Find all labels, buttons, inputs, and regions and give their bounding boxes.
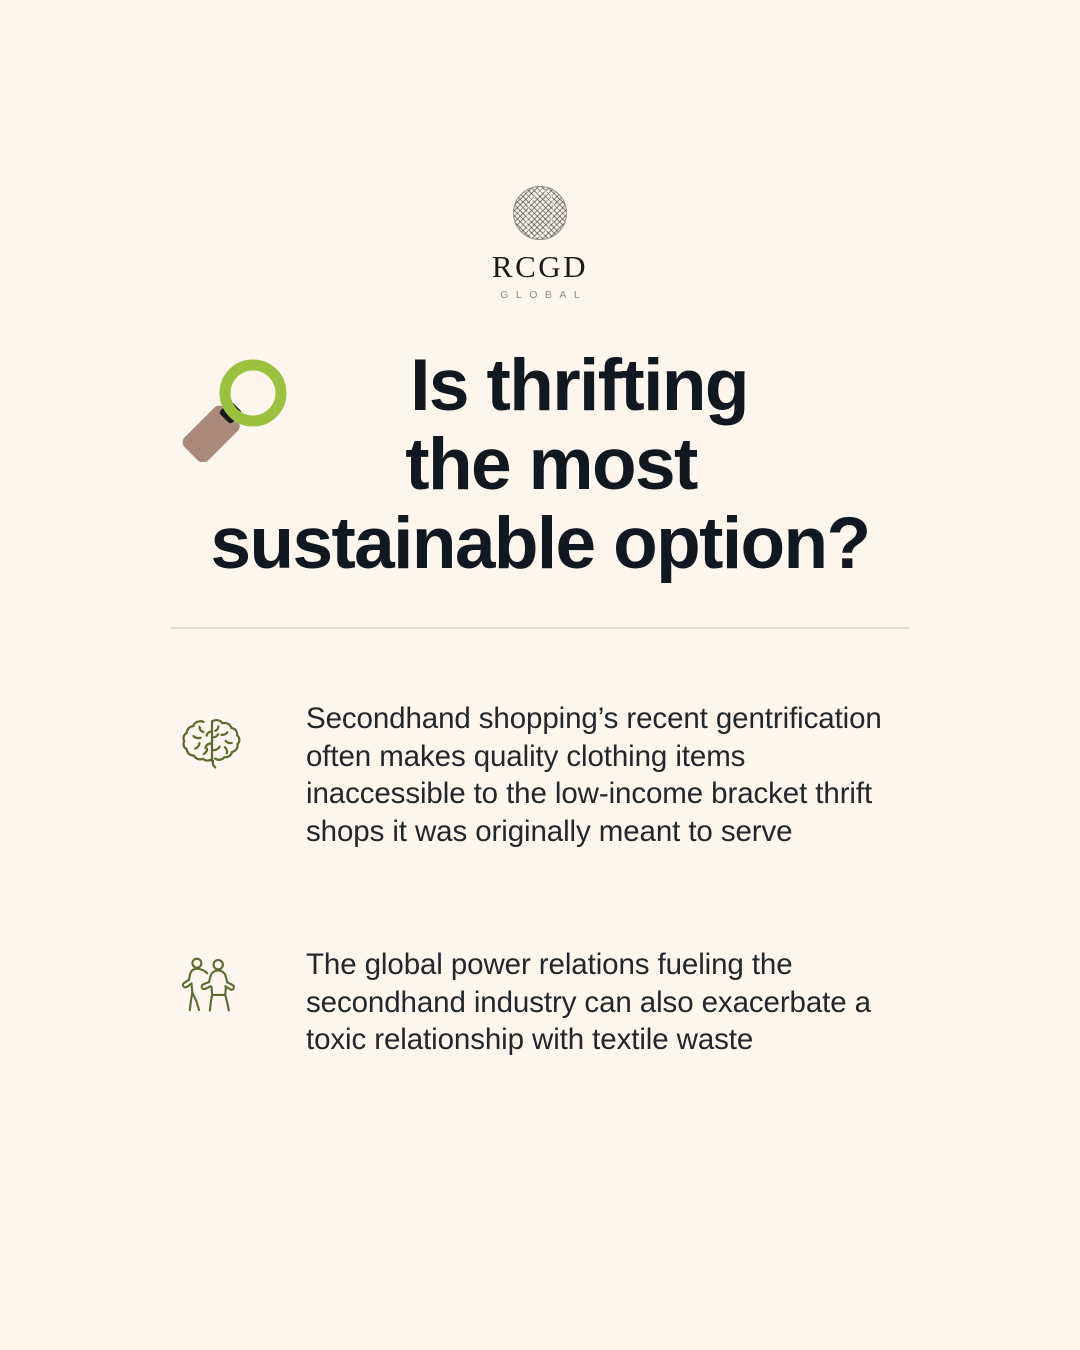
list-item-text: Secondhand shopping’s recent gentrificat…: [306, 700, 906, 850]
slide-canvas: RCGD GLOBAL Is thrifting the most sustai…: [0, 0, 1080, 1350]
headline-line-3: sustainable option?: [0, 504, 1080, 583]
yarn-ball-mark-icon: [513, 186, 567, 240]
page-title: Is thrifting the most sustainable option…: [0, 346, 1080, 583]
brand-tagline: GLOBAL: [493, 289, 588, 301]
two-people-power-icon: [178, 954, 254, 1030]
list-item: Secondhand shopping’s recent gentrificat…: [0, 700, 1080, 850]
magnifying-glass-icon: [180, 354, 292, 462]
list-item-text: The global power relations fueling the s…: [306, 946, 906, 1059]
headline-line-1: Is thrifting: [0, 346, 1080, 425]
headline-block: Is thrifting the most sustainable option…: [0, 346, 1080, 583]
brand-wordmark: RCGD: [492, 251, 588, 282]
headline-line-2: the most: [0, 425, 1080, 504]
brand-lockup: RCGD GLOBAL: [0, 186, 1080, 301]
list-item: The global power relations fueling the s…: [0, 946, 1080, 1059]
section-divider: [170, 627, 910, 629]
brain-icon: [178, 708, 254, 784]
points-list: Secondhand shopping’s recent gentrificat…: [0, 700, 1080, 1059]
